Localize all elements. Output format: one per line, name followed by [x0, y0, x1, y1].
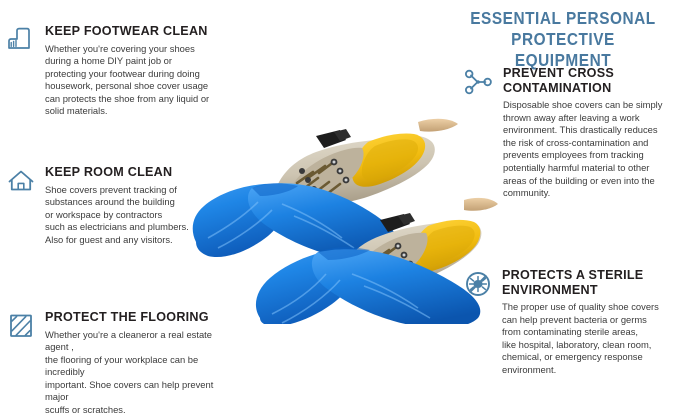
feature-heading: KEEP FOOTWEAR CLEAN [45, 24, 221, 39]
floor-tile-icon [6, 312, 36, 340]
feature-body: Shoe covers prevent tracking of substanc… [45, 184, 214, 247]
feature-body: Whether you're a cleaneror a real estate… [45, 329, 227, 417]
feature-prevent-cross-contamination: PREVENT CROSS CONTAMINATION Disposable s… [463, 66, 675, 200]
feature-protect-the-flooring: PROTECT THE FLOORING Whether you're a cl… [6, 310, 227, 417]
feature-keep-room-clean: KEEP ROOM CLEAN Shoe covers prevent trac… [6, 165, 214, 246]
feature-heading: PROTECTS A STERILE ENVIRONMENT [502, 268, 675, 297]
feature-keep-footwear-clean: KEEP FOOTWEAR CLEAN Whether you're cover… [6, 24, 221, 118]
infographic-canvas: ESSENTIAL PERSONAL PROTECTIVE EQUIPMENT [0, 0, 679, 420]
no-germs-icon [463, 270, 493, 298]
feature-heading: KEEP ROOM CLEAN [45, 165, 214, 180]
feature-body: The proper use of quality shoe covers ca… [502, 301, 675, 377]
page-title-line-2: PROTECTIVE EQUIPMENT [468, 29, 658, 71]
page-title: ESSENTIAL PERSONAL PROTECTIVE EQUIPMENT [468, 8, 658, 71]
product-image [182, 92, 504, 324]
boot-icon [6, 26, 36, 54]
feature-body: Disposable shoe covers can be simply thr… [503, 99, 675, 200]
network-nodes-icon [463, 68, 493, 96]
feature-heading: PROTECT THE FLOORING [45, 310, 227, 325]
feature-protects-a-sterile-environment: PROTECTS A STERILE ENVIRONMENT The prope… [463, 268, 675, 377]
house-icon [6, 167, 36, 195]
feature-body: Whether you're covering your shoes durin… [45, 43, 221, 119]
page-title-line-1: ESSENTIAL PERSONAL [470, 8, 656, 28]
feature-heading: PREVENT CROSS CONTAMINATION [503, 66, 675, 95]
